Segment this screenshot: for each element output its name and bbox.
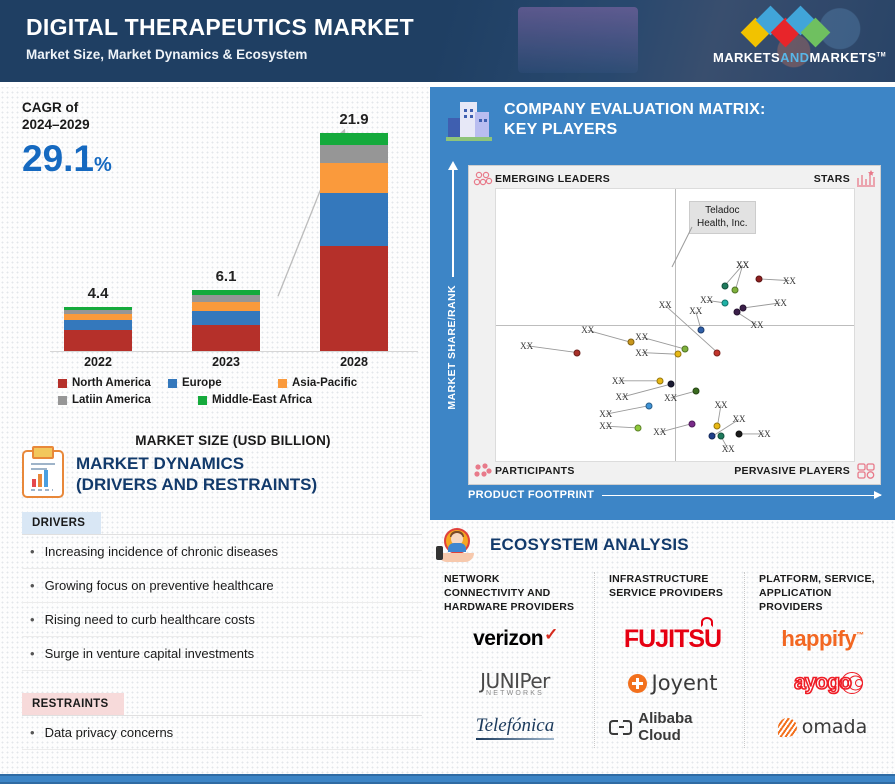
logo-tm: TM (877, 53, 886, 59)
matrix-quadrant-box: EMERGING LEADERS STARS PARTICIPANTS PERV… (468, 165, 881, 485)
matrix-data-point (698, 327, 705, 334)
quadrant-participants-label: PARTICIPANTS (495, 465, 575, 477)
logo-and: AND (780, 50, 809, 65)
building-icon (446, 99, 492, 141)
legend-item-latiin-america: Latiin America (58, 394, 198, 406)
bullet-icon: • (30, 612, 35, 627)
alibaba-wordmark: Alibaba Cloud (638, 710, 736, 744)
page-footer-bar (0, 774, 895, 784)
matrix-data-point (646, 402, 653, 409)
matrix-point-label: XX (664, 393, 677, 403)
drivers-tag-row: DRIVERS (22, 512, 422, 535)
bar-segment-asia-pacific (320, 163, 388, 193)
bar-total-label-2028: 21.9 (339, 111, 368, 128)
legend-item-asia-pacific: Asia-Pacific (278, 377, 388, 389)
matrix-point-label: XX (653, 427, 666, 437)
happify-logo: happify™ (759, 618, 886, 660)
col1-title-line2: CONNECTIVITY AND (444, 586, 586, 600)
bar-total-label-2023: 6.1 (216, 268, 237, 285)
driver-text: Rising need to curb healthcare costs (45, 612, 255, 627)
matrix-data-point (714, 349, 721, 356)
markets-and-markets-logo: MARKETSANDMARKETSTM (713, 10, 873, 72)
matrix-data-point (721, 282, 728, 289)
matrix-point-label: XX (783, 276, 796, 286)
x-label-2028: 2028 (340, 355, 368, 369)
infographic-page: DIGITAL THERAPEUTICS MARKET Market Size,… (0, 0, 895, 784)
logo-markets-2: MARKETS (809, 50, 876, 65)
matrix-scatter-plot: Teladoc Health, Inc. XXXXXXXXXXXXXXXXXXX… (495, 188, 855, 462)
joyent-plus-icon (628, 674, 647, 693)
y-axis-arrow-icon (452, 169, 454, 277)
bar-segment-europe (320, 193, 388, 247)
matrix-data-point (656, 377, 663, 384)
matrix-data-point (689, 420, 696, 427)
teladoc-callout: Teladoc Health, Inc. (689, 201, 756, 234)
matrix-data-point (718, 433, 725, 440)
matrix-data-point (709, 433, 716, 440)
driver-item: •Growing focus on preventive healthcare (22, 569, 422, 603)
matrix-x-axis-label: PRODUCT FOOTPRINT (468, 489, 594, 501)
col3-title-line2: APPLICATION (759, 586, 886, 600)
bar-segment-europe (192, 311, 260, 325)
matrix-y-axis-label: MARKET SHARE/RANK (446, 285, 462, 410)
alibaba-cloud-logo: Alibaba Cloud (609, 706, 736, 748)
driver-text: Surge in venture capital investments (45, 646, 255, 661)
legend-item-north-america: North America (58, 377, 168, 389)
fujitsu-wordmark: FUJITSU (624, 625, 721, 653)
matrix-data-point (574, 349, 581, 356)
matrix-point-label: XX (774, 298, 787, 308)
bar-2028 (320, 133, 388, 351)
matrix-point-label: XX (715, 400, 728, 410)
matrix-data-point (736, 430, 743, 437)
col2-title-line1: INFRASTRUCTURE (609, 572, 736, 586)
omada-wordmark: omada (802, 716, 867, 738)
legend-swatch (58, 396, 67, 405)
ecosystem-title: ECOSYSTEM ANALYSIS (490, 535, 689, 555)
bullet-icon: • (30, 544, 35, 559)
joyent-wordmark: Joyent (652, 671, 718, 695)
company-evaluation-matrix-panel: COMPANY EVALUATION MATRIX: KEY PLAYERS M… (430, 87, 895, 520)
alibaba-bracket-icon (609, 720, 632, 735)
telefonica-logo: Telefónica (444, 706, 586, 748)
market-dynamics-section: MARKET DYNAMICS (DRIVERS AND RESTRAINTS)… (22, 450, 422, 750)
drivers-badge: DRIVERS (22, 512, 101, 534)
drivers-list: •Increasing incidence of chronic disease… (22, 535, 422, 671)
happify-wordmark: happify (781, 626, 856, 651)
bullet-icon: • (30, 725, 35, 740)
matrix-data-point (635, 424, 642, 431)
matrix-point-label: XX (599, 421, 612, 431)
quadrant-stars-label: STARS (814, 173, 850, 185)
legend-label: Asia-Pacific (292, 377, 357, 389)
market-size-chart: 4.46.121.9 202220232028 North AmericaEur… (18, 105, 418, 425)
clipboard-icon (22, 450, 64, 498)
matrix-point-label: XX (635, 348, 648, 358)
col3-title-line3: PROVIDERS (759, 600, 886, 614)
matrix-point-label: XX (722, 444, 735, 454)
matrix-data-point (682, 346, 689, 353)
driver-item: •Rising need to curb healthcare costs (22, 603, 422, 637)
left-column: CAGR of 2024–2029 29.1% 4.46.121.9 20222… (0, 87, 430, 757)
bar-segment-north-america (320, 246, 388, 351)
bar-2022 (64, 307, 132, 351)
matrix-title: COMPANY EVALUATION MATRIX: KEY PLAYERS (504, 100, 766, 140)
juniper-subtext: NETWORKS (480, 690, 550, 697)
legend-swatch (58, 379, 67, 388)
driver-item: •Increasing incidence of chronic disease… (22, 535, 422, 569)
legend-item-europe: Europe (168, 377, 278, 389)
callout-line2: Health, Inc. (697, 218, 748, 231)
ecosystem-column-network: NETWORK CONNECTIVITY AND HARDWARE PROVID… (444, 572, 594, 748)
driver-item: •Surge in venture capital investments (22, 637, 422, 671)
matrix-point-label: XX (736, 260, 749, 270)
chart-x-axis (50, 351, 418, 352)
legend-swatch (168, 379, 177, 388)
legend-row: North AmericaEuropeAsia-Pacific (58, 377, 388, 389)
legend-swatch (198, 396, 207, 405)
legend-label: Latiin America (72, 394, 151, 406)
logo-markets-1: MARKETS (713, 50, 780, 65)
dynamics-title-line2: (DRIVERS AND RESTRAINTS) (76, 474, 317, 495)
matrix-data-point (674, 351, 681, 358)
joyent-logo: Joyent (609, 662, 736, 704)
restraints-badge: RESTRAINTS (22, 693, 124, 715)
col3-title-line1: PLATFORM, SERVICE, (759, 572, 886, 586)
bar-segment-middle-east-africa (320, 133, 388, 145)
matrix-data-point (628, 339, 635, 346)
matrix-data-point (667, 381, 674, 388)
driver-text: Increasing incidence of chronic diseases (45, 544, 278, 559)
col1-title-line1: NETWORK (444, 572, 586, 586)
matrix-point-label: XX (599, 409, 612, 419)
x-label-2023: 2023 (212, 355, 240, 369)
column-title-infrastructure: INFRASTRUCTURE SERVICE PROVIDERS (609, 572, 736, 616)
omada-logo: omada (759, 706, 886, 748)
ayogo-rings-icon (841, 672, 863, 694)
bar-2023 (192, 290, 260, 351)
legend-row: Latiin AmericaMiddle-East Africa (58, 394, 388, 406)
ecosystem-analysis-section: ECOSYSTEM ANALYSIS NETWORK CONNECTIVITY … (430, 528, 895, 758)
bar-segment-north-america (192, 325, 260, 351)
bar-total-label-2022: 4.4 (88, 285, 109, 302)
restraint-text: Data privacy concerns (45, 725, 174, 740)
column-title-platform: PLATFORM, SERVICE, APPLICATION PROVIDERS (759, 572, 886, 616)
matrix-point-label: XX (635, 332, 648, 342)
verizon-check-icon: ✓ (544, 625, 558, 644)
matrix-title-line1: COMPANY EVALUATION MATRIX: (504, 100, 766, 120)
bullet-icon: • (30, 578, 35, 593)
quadrant-emerging-leaders-label: EMERGING LEADERS (495, 173, 610, 185)
participants-icon (473, 462, 493, 480)
legend-item-middle-east-africa: Middle-East Africa (198, 394, 338, 406)
happify-tm: ™ (856, 631, 864, 640)
ecosystem-column-infrastructure: INFRASTRUCTURE SERVICE PROVIDERS FUJITSU… (594, 572, 744, 748)
legend-label: Europe (182, 377, 222, 389)
omada-mark-icon (778, 718, 797, 737)
col2-title-line2: SERVICE PROVIDERS (609, 586, 736, 600)
matrix-body: MARKET SHARE/RANK (446, 165, 881, 510)
matrix-point-label: XX (616, 392, 629, 402)
juniper-networks-logo: JUNIPer NETWORKS (444, 662, 586, 704)
bar-segment-latiin-america (192, 295, 260, 302)
chart-caption: MARKET SIZE (USD BILLION) (18, 433, 448, 448)
x-axis-arrow-icon (602, 495, 881, 496)
pervasive-players-icon (856, 462, 876, 480)
matrix-x-axis: PRODUCT FOOTPRINT (468, 489, 881, 501)
ayogo-logo: ayogo (759, 662, 886, 704)
market-dynamics-title: MARKET DYNAMICS (DRIVERS AND RESTRAINTS) (76, 453, 317, 496)
bar-segment-europe (64, 320, 132, 330)
fujitsu-logo: FUJITSU (609, 618, 736, 660)
legend-label: North America (72, 377, 151, 389)
matrix-point-label: XX (659, 300, 672, 310)
page-header: DIGITAL THERAPEUTICS MARKET Market Size,… (0, 0, 895, 82)
matrix-horizontal-divider (496, 325, 854, 326)
col1-title-line3: HARDWARE PROVIDERS (444, 600, 586, 614)
matrix-data-point (732, 287, 739, 294)
matrix-point-label: XX (758, 429, 771, 439)
bullet-icon: • (30, 646, 35, 661)
matrix-point-label: XX (751, 320, 764, 330)
matrix-data-point (714, 423, 721, 430)
matrix-data-point (692, 388, 699, 395)
matrix-point-label: XX (689, 306, 702, 316)
bar-segment-asia-pacific (192, 302, 260, 311)
restraints-list: •Data privacy concerns (22, 716, 422, 750)
matrix-point-label: XX (581, 325, 594, 335)
logo-wordmark: MARKETSANDMARKETSTM (713, 50, 873, 65)
chart-legend: North AmericaEuropeAsia-PacificLatiin Am… (58, 377, 388, 411)
matrix-title-line2: KEY PLAYERS (504, 120, 766, 140)
bar-segment-north-america (64, 330, 132, 351)
restraints-tag-row: RESTRAINTS (22, 693, 422, 716)
callout-line1: Teladoc (697, 205, 748, 218)
logo-diamonds-icon (727, 10, 859, 44)
matrix-point-label: XX (520, 341, 533, 351)
restraint-item: •Data privacy concerns (22, 716, 422, 750)
x-label-2022: 2022 (84, 355, 112, 369)
matrix-data-point (755, 275, 762, 282)
driver-text: Growing focus on preventive healthcare (45, 578, 274, 593)
telefonica-wordmark: Telefónica (476, 715, 554, 737)
matrix-data-point (734, 309, 741, 316)
dynamics-title-line1: MARKET DYNAMICS (76, 453, 317, 474)
emerging-leaders-icon (473, 170, 493, 188)
bar-segment-latiin-america (320, 145, 388, 163)
fujitsu-infinity-icon (701, 617, 713, 627)
legend-label: Middle-East Africa (212, 394, 312, 406)
verizon-logo: verizon✓ (444, 618, 586, 660)
matrix-data-point (721, 299, 728, 306)
quadrant-pervasive-players-label: PERVASIVE PLAYERS (734, 465, 850, 477)
ecosystem-column-platform: PLATFORM, SERVICE, APPLICATION PROVIDERS… (744, 572, 894, 748)
stars-chart-icon (856, 169, 876, 187)
hand-holding-person-icon (436, 528, 480, 562)
verizon-wordmark: verizon (473, 627, 543, 650)
column-title-network: NETWORK CONNECTIVITY AND HARDWARE PROVID… (444, 572, 586, 616)
matrix-point-label: XX (733, 414, 746, 424)
legend-swatch (278, 379, 287, 388)
chart-plot-area: 4.46.121.9 (38, 105, 414, 352)
matrix-point-label: XX (612, 376, 625, 386)
matrix-point-label: XX (700, 295, 713, 305)
chart-category-labels: 202220232028 (38, 355, 414, 373)
